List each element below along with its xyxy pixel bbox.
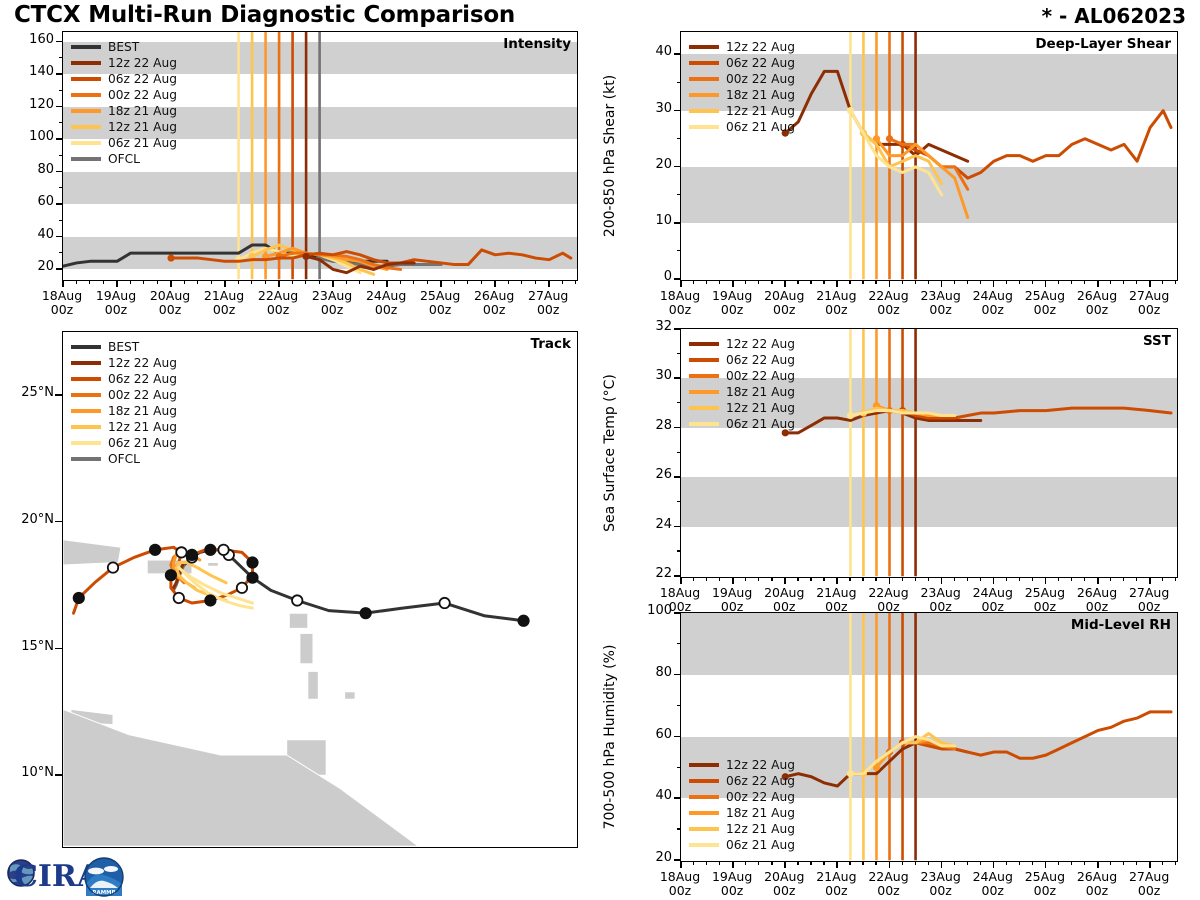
x-minor-tick — [1123, 577, 1124, 581]
track-marker-00z — [150, 545, 160, 555]
init-marker — [847, 412, 854, 419]
y-tick-label: 40 — [622, 788, 672, 803]
y-tick-mark — [674, 166, 680, 168]
x-tick-mark — [941, 577, 943, 584]
x-tick-mark — [836, 861, 838, 868]
landmass — [63, 540, 121, 565]
y-tick-mark — [674, 377, 680, 379]
legend-item[interactable]: 12z 22 Aug — [71, 355, 177, 371]
legend-rh: 12z 22 Aug06z 22 Aug00z 22 Aug18z 21 Aug… — [689, 757, 795, 853]
track-marker-12z — [237, 583, 247, 593]
legend-swatch — [71, 77, 101, 81]
legend-item[interactable]: 12z 22 Aug — [689, 757, 795, 773]
x-tick-mark — [732, 577, 734, 584]
lat-tick-label: 20°N — [0, 512, 54, 527]
x-tick-mark — [62, 280, 64, 287]
legend-item[interactable]: OFCL — [71, 451, 177, 467]
x-minor-tick — [1084, 861, 1085, 865]
x-tick-mark — [278, 280, 280, 287]
x-minor-tick — [346, 280, 347, 284]
legend-label: 00z 22 Aug — [726, 791, 795, 803]
legend-track: BEST12z 22 Aug06z 22 Aug00z 22 Aug18z 21… — [71, 339, 177, 467]
y-tick-label: 80 — [4, 162, 54, 177]
y-minor-tick — [677, 643, 681, 644]
x-minor-tick — [915, 861, 916, 865]
x-minor-tick — [76, 280, 77, 284]
legend-label: 12z 22 Aug — [108, 57, 177, 69]
y-tick-label: 80 — [622, 665, 672, 680]
init-marker — [167, 254, 174, 261]
legend-label: 06z 22 Aug — [726, 775, 795, 787]
legend-swatch — [689, 795, 719, 799]
x-tick-label: 27Aug00z — [1117, 870, 1181, 898]
storm-id-label: * - AL062023 — [1042, 4, 1186, 28]
landmass — [345, 692, 356, 700]
y-tick-mark — [674, 328, 680, 330]
x-minor-tick — [954, 577, 955, 581]
x-minor-tick — [928, 861, 929, 865]
x-minor-tick — [810, 280, 811, 284]
page-title: CTCX Multi-Run Diagnostic Comparison — [14, 2, 515, 28]
x-tick-mark — [732, 861, 734, 868]
legend-label: 12z 21 Aug — [726, 402, 795, 414]
legend-swatch — [689, 406, 719, 410]
x-minor-tick — [1162, 577, 1163, 581]
y-minor-tick — [677, 705, 681, 706]
legend-label: 06z 22 Aug — [108, 73, 177, 85]
legend-item[interactable]: 06z 21 Aug — [71, 435, 177, 451]
x-tick-mark — [889, 280, 891, 287]
y-tick-label: 60 — [4, 194, 54, 209]
x-tick-mark — [680, 861, 682, 868]
y-tick-mark — [674, 674, 680, 676]
y-minor-tick — [677, 452, 681, 453]
y-tick-label: 10 — [622, 213, 672, 228]
y-tick-label: 22 — [622, 566, 672, 581]
legend-item[interactable]: 00z 22 Aug — [71, 387, 177, 403]
y-tick-mark — [56, 106, 62, 108]
x-minor-tick — [319, 280, 320, 284]
legend-swatch — [689, 827, 719, 831]
legend-swatch — [689, 779, 719, 783]
x-minor-tick — [849, 861, 850, 865]
legend-label: 00z 22 Aug — [726, 73, 795, 85]
x-minor-tick — [1123, 280, 1124, 284]
legend-swatch — [689, 374, 719, 378]
x-minor-tick — [902, 577, 903, 581]
x-minor-tick — [719, 861, 720, 865]
legend-item[interactable]: 18z 21 Aug — [689, 87, 795, 103]
x-minor-tick — [103, 280, 104, 284]
track-marker-12z — [439, 598, 449, 608]
legend-item[interactable]: 12z 22 Aug — [71, 55, 177, 71]
legend-item[interactable]: 06z 22 Aug — [689, 773, 795, 789]
y-tick-label: 30 — [622, 368, 672, 383]
legend-item[interactable]: 18z 21 Aug — [71, 103, 177, 119]
legend-label: OFCL — [108, 153, 140, 165]
y-minor-tick — [59, 252, 63, 253]
x-minor-tick — [197, 280, 198, 284]
init-marker — [847, 107, 854, 114]
legend-item[interactable]: 12z 22 Aug — [689, 336, 795, 352]
x-tick-mark — [440, 280, 442, 287]
legend-swatch — [689, 763, 719, 767]
x-minor-tick — [902, 861, 903, 865]
legend-label: 12z 22 Aug — [726, 41, 795, 53]
x-minor-tick — [967, 280, 968, 284]
x-minor-tick — [1136, 861, 1137, 865]
y-tick-mark — [674, 53, 680, 55]
legend-label: 12z 21 Aug — [726, 823, 795, 835]
x-minor-tick — [1071, 861, 1072, 865]
y-tick-label: 100 — [4, 129, 54, 144]
y-tick-mark — [56, 171, 62, 173]
x-minor-tick — [915, 577, 916, 581]
legend-label: BEST — [108, 341, 139, 353]
x-minor-tick — [875, 861, 876, 865]
x-tick-mark — [494, 280, 496, 287]
x-tick-mark — [941, 861, 943, 868]
landmass — [300, 633, 313, 663]
legend-swatch — [71, 109, 101, 113]
x-minor-tick — [238, 280, 239, 284]
x-minor-tick — [980, 280, 981, 284]
y-tick-label: 40 — [622, 44, 672, 59]
y-tick-label: 20 — [622, 157, 672, 172]
panel-title-intensity: Intensity — [503, 36, 571, 52]
y-minor-tick — [59, 155, 63, 156]
x-minor-tick — [706, 280, 707, 284]
legend-item[interactable]: 18z 21 Aug — [689, 805, 795, 821]
x-minor-tick — [400, 280, 401, 284]
track-marker-12z — [292, 595, 302, 605]
x-tick-mark — [1097, 577, 1099, 584]
x-tick-mark — [1097, 280, 1099, 287]
legend-label: 06z 21 Aug — [108, 137, 177, 149]
legend-swatch — [71, 61, 101, 65]
legend-item[interactable]: 06z 21 Aug — [689, 837, 795, 853]
track-marker-00z — [205, 595, 215, 605]
y-tick-mark — [674, 526, 680, 528]
legend-label: 12z 22 Aug — [108, 357, 177, 369]
x-minor-tick — [1071, 280, 1072, 284]
x-minor-tick — [562, 280, 563, 284]
x-tick-label: 27Aug00z — [516, 289, 580, 317]
x-minor-tick — [1084, 577, 1085, 581]
x-minor-tick — [575, 280, 576, 284]
y-minor-tick — [677, 550, 681, 551]
y-tick-label: 140 — [4, 64, 54, 79]
legend-item[interactable]: 12z 22 Aug — [689, 39, 795, 55]
legend-swatch — [689, 422, 719, 426]
legend-item[interactable]: BEST — [71, 339, 177, 355]
x-minor-tick — [251, 280, 252, 284]
panel-title-track: Track — [531, 336, 571, 352]
y-tick-label: 160 — [4, 32, 54, 47]
x-tick-mark — [332, 280, 334, 287]
legend-item[interactable]: 00z 22 Aug — [689, 71, 795, 87]
y-tick-mark — [674, 612, 680, 614]
x-minor-tick — [1019, 280, 1020, 284]
x-minor-tick — [1032, 280, 1033, 284]
x-minor-tick — [967, 577, 968, 581]
y-minor-tick — [677, 353, 681, 354]
legend-item[interactable]: OFCL — [71, 151, 177, 167]
x-minor-tick — [797, 577, 798, 581]
y-tick-label: 24 — [622, 517, 672, 532]
panel-track: TrackBEST12z 22 Aug06z 22 Aug00z 22 Aug1… — [62, 331, 578, 848]
legend-label: 06z 21 Aug — [726, 418, 795, 430]
panel-rh: Mid-Level RH12z 22 Aug06z 22 Aug00z 22 A… — [680, 612, 1178, 862]
legend-item[interactable]: 00z 22 Aug — [689, 789, 795, 805]
y-tick-mark — [674, 222, 680, 224]
legend-item[interactable]: 06z 22 Aug — [71, 71, 177, 87]
x-tick-mark — [680, 577, 682, 584]
x-minor-tick — [758, 861, 759, 865]
track-marker-00z — [166, 570, 176, 580]
x-minor-tick — [693, 577, 694, 581]
legend-swatch — [71, 141, 101, 145]
track-marker-00z — [205, 545, 215, 555]
x-minor-tick — [1006, 577, 1007, 581]
y-axis-label-sst: Sea Surface Temp (°C) — [602, 374, 618, 532]
x-minor-tick — [1032, 861, 1033, 865]
legend-item[interactable]: 12z 21 Aug — [689, 103, 795, 119]
x-minor-tick — [467, 280, 468, 284]
x-tick-mark — [386, 280, 388, 287]
legend-item[interactable]: 18z 21 Aug — [689, 384, 795, 400]
x-minor-tick — [797, 280, 798, 284]
y-minor-tick — [677, 82, 681, 83]
legend-item[interactable]: 06z 21 Aug — [689, 119, 795, 135]
y-tick-label: 20 — [4, 259, 54, 274]
legend-swatch — [71, 361, 101, 365]
legend-item[interactable]: 06z 22 Aug — [689, 352, 795, 368]
y-tick-mark — [674, 110, 680, 112]
legend-label: 18z 21 Aug — [726, 89, 795, 101]
legend-sst: 12z 22 Aug06z 22 Aug00z 22 Aug18z 21 Aug… — [689, 336, 795, 432]
x-minor-tick — [745, 861, 746, 865]
legend-item[interactable]: 00z 22 Aug — [71, 87, 177, 103]
y-tick-label: 120 — [4, 97, 54, 112]
y-tick-label: 100 — [622, 603, 672, 618]
x-minor-tick — [89, 280, 90, 284]
x-minor-tick — [1110, 861, 1111, 865]
y-minor-tick — [677, 250, 681, 251]
track-marker-12z — [174, 593, 184, 603]
x-tick-mark — [1097, 861, 1099, 868]
x-tick-mark — [889, 861, 891, 868]
x-minor-tick — [1084, 280, 1085, 284]
x-minor-tick — [706, 577, 707, 581]
legend-label: 06z 22 Aug — [108, 373, 177, 385]
x-minor-tick — [1071, 577, 1072, 581]
y-tick-mark — [674, 476, 680, 478]
cira-logo: CIRA RAMMB — [6, 846, 134, 896]
x-minor-tick — [693, 280, 694, 284]
legend-swatch — [71, 157, 101, 161]
lat-tick-mark — [55, 394, 62, 396]
x-minor-tick — [719, 280, 720, 284]
x-minor-tick — [758, 577, 759, 581]
x-tick-mark — [732, 280, 734, 287]
legend-item[interactable]: BEST — [71, 39, 177, 55]
y-tick-label: 0 — [622, 269, 672, 284]
y-axis-label-shear: 200-850 hPa Shear (kt) — [602, 75, 618, 237]
x-minor-tick — [875, 577, 876, 581]
y-minor-tick — [677, 402, 681, 403]
legend-label: 12z 21 Aug — [108, 121, 177, 133]
x-minor-tick — [810, 577, 811, 581]
x-tick-label: 27Aug00z — [1117, 586, 1181, 614]
x-minor-tick — [265, 280, 266, 284]
track-marker-00z — [247, 557, 257, 567]
legend-swatch — [689, 93, 719, 97]
x-minor-tick — [810, 861, 811, 865]
x-tick-mark — [1149, 861, 1151, 868]
x-minor-tick — [359, 280, 360, 284]
lat-tick-label: 25°N — [0, 385, 54, 400]
y-minor-tick — [677, 194, 681, 195]
y-minor-tick — [59, 187, 63, 188]
lat-tick-mark — [55, 774, 62, 776]
init-marker — [886, 135, 893, 142]
legend-swatch — [71, 345, 101, 349]
x-tick-mark — [1149, 280, 1151, 287]
track-marker-00z — [247, 573, 257, 583]
x-minor-tick — [954, 280, 955, 284]
x-minor-tick — [1136, 280, 1137, 284]
panel-sst: SST12z 22 Aug06z 22 Aug00z 22 Aug18z 21 … — [680, 328, 1178, 578]
y-tick-mark — [56, 268, 62, 270]
legend-label: 18z 21 Aug — [726, 386, 795, 398]
x-minor-tick — [862, 280, 863, 284]
legend-label: 00z 22 Aug — [108, 89, 177, 101]
legend-item[interactable]: 12z 21 Aug — [71, 419, 177, 435]
x-minor-tick — [1019, 577, 1020, 581]
x-minor-tick — [862, 861, 863, 865]
y-tick-mark — [674, 427, 680, 429]
x-minor-tick — [928, 577, 929, 581]
legend-label: 00z 22 Aug — [108, 389, 177, 401]
legend-swatch — [71, 457, 101, 461]
lat-tick-mark — [55, 521, 62, 523]
x-minor-tick — [771, 577, 772, 581]
x-tick-mark — [170, 280, 172, 287]
legend-swatch — [689, 342, 719, 346]
x-minor-tick — [954, 861, 955, 865]
legend-item[interactable]: 18z 21 Aug — [71, 403, 177, 419]
y-tick-mark — [56, 138, 62, 140]
legend-label: 06z 21 Aug — [726, 121, 795, 133]
x-tick-label: 27Aug00z — [1117, 289, 1181, 317]
legend-item[interactable]: 06z 22 Aug — [689, 55, 795, 71]
y-axis-label-rh: 700-500 hPa Humidity (%) — [602, 645, 618, 830]
x-minor-tick — [719, 577, 720, 581]
track-marker-00z — [74, 593, 84, 603]
legend-item[interactable]: 06z 22 Aug — [71, 371, 177, 387]
y-minor-tick — [677, 767, 681, 768]
x-minor-tick — [184, 280, 185, 284]
x-minor-tick — [771, 861, 772, 865]
legend-swatch — [689, 109, 719, 113]
y-minor-tick — [59, 90, 63, 91]
x-minor-tick — [1175, 861, 1176, 865]
legend-item[interactable]: 00z 22 Aug — [689, 368, 795, 384]
panel-title-sst: SST — [1143, 333, 1171, 349]
legend-item[interactable]: 06z 21 Aug — [71, 135, 177, 151]
x-minor-tick — [535, 280, 536, 284]
init-marker — [302, 253, 309, 260]
y-tick-label: 26 — [622, 467, 672, 482]
track-marker-00z — [360, 608, 370, 618]
x-tick-mark — [1045, 280, 1047, 287]
legend-item[interactable]: 12z 21 Aug — [71, 119, 177, 135]
series-12z-22-aug — [785, 411, 980, 433]
legend-item[interactable]: 12z 21 Aug — [689, 400, 795, 416]
lat-tick-mark — [55, 648, 62, 650]
track-marker-00z — [518, 616, 528, 626]
y-tick-mark — [674, 736, 680, 738]
x-minor-tick — [980, 577, 981, 581]
x-minor-tick — [797, 861, 798, 865]
x-minor-tick — [1136, 577, 1137, 581]
x-minor-tick — [928, 280, 929, 284]
x-tick-mark — [680, 280, 682, 287]
x-minor-tick — [1110, 577, 1111, 581]
legend-label: 06z 21 Aug — [108, 437, 177, 449]
legend-label: 06z 21 Aug — [726, 839, 795, 851]
legend-swatch — [71, 93, 101, 97]
legend-item[interactable]: 06z 21 Aug — [689, 416, 795, 432]
x-minor-tick — [706, 861, 707, 865]
legend-intensity: BEST12z 22 Aug06z 22 Aug00z 22 Aug18z 21… — [71, 39, 177, 167]
y-tick-label: 30 — [622, 101, 672, 116]
x-tick-mark — [836, 577, 838, 584]
legend-item[interactable]: 12z 21 Aug — [689, 821, 795, 837]
x-minor-tick — [1006, 280, 1007, 284]
x-minor-tick — [292, 280, 293, 284]
x-minor-tick — [823, 861, 824, 865]
track-best — [184, 550, 524, 621]
x-minor-tick — [1123, 861, 1124, 865]
y-tick-mark — [56, 236, 62, 238]
track-marker-12z — [176, 547, 186, 557]
legend-swatch — [71, 393, 101, 397]
x-minor-tick — [1058, 861, 1059, 865]
x-minor-tick — [862, 577, 863, 581]
legend-swatch — [689, 45, 719, 49]
x-tick-mark — [941, 280, 943, 287]
panel-title-shear: Deep-Layer Shear — [1035, 36, 1171, 52]
y-minor-tick — [59, 122, 63, 123]
x-minor-tick — [823, 280, 824, 284]
x-minor-tick — [413, 280, 414, 284]
y-tick-mark — [56, 73, 62, 75]
x-minor-tick — [1110, 280, 1111, 284]
x-minor-tick — [745, 280, 746, 284]
legend-swatch — [71, 441, 101, 445]
y-tick-mark — [56, 203, 62, 205]
y-tick-label: 20 — [622, 850, 672, 865]
legend-swatch — [71, 409, 101, 413]
x-minor-tick — [1175, 577, 1176, 581]
legend-label: 06z 22 Aug — [726, 57, 795, 69]
legend-swatch — [71, 425, 101, 429]
legend-shear: 12z 22 Aug06z 22 Aug00z 22 Aug18z 21 Aug… — [689, 39, 795, 135]
x-minor-tick — [967, 861, 968, 865]
x-minor-tick — [1032, 577, 1033, 581]
